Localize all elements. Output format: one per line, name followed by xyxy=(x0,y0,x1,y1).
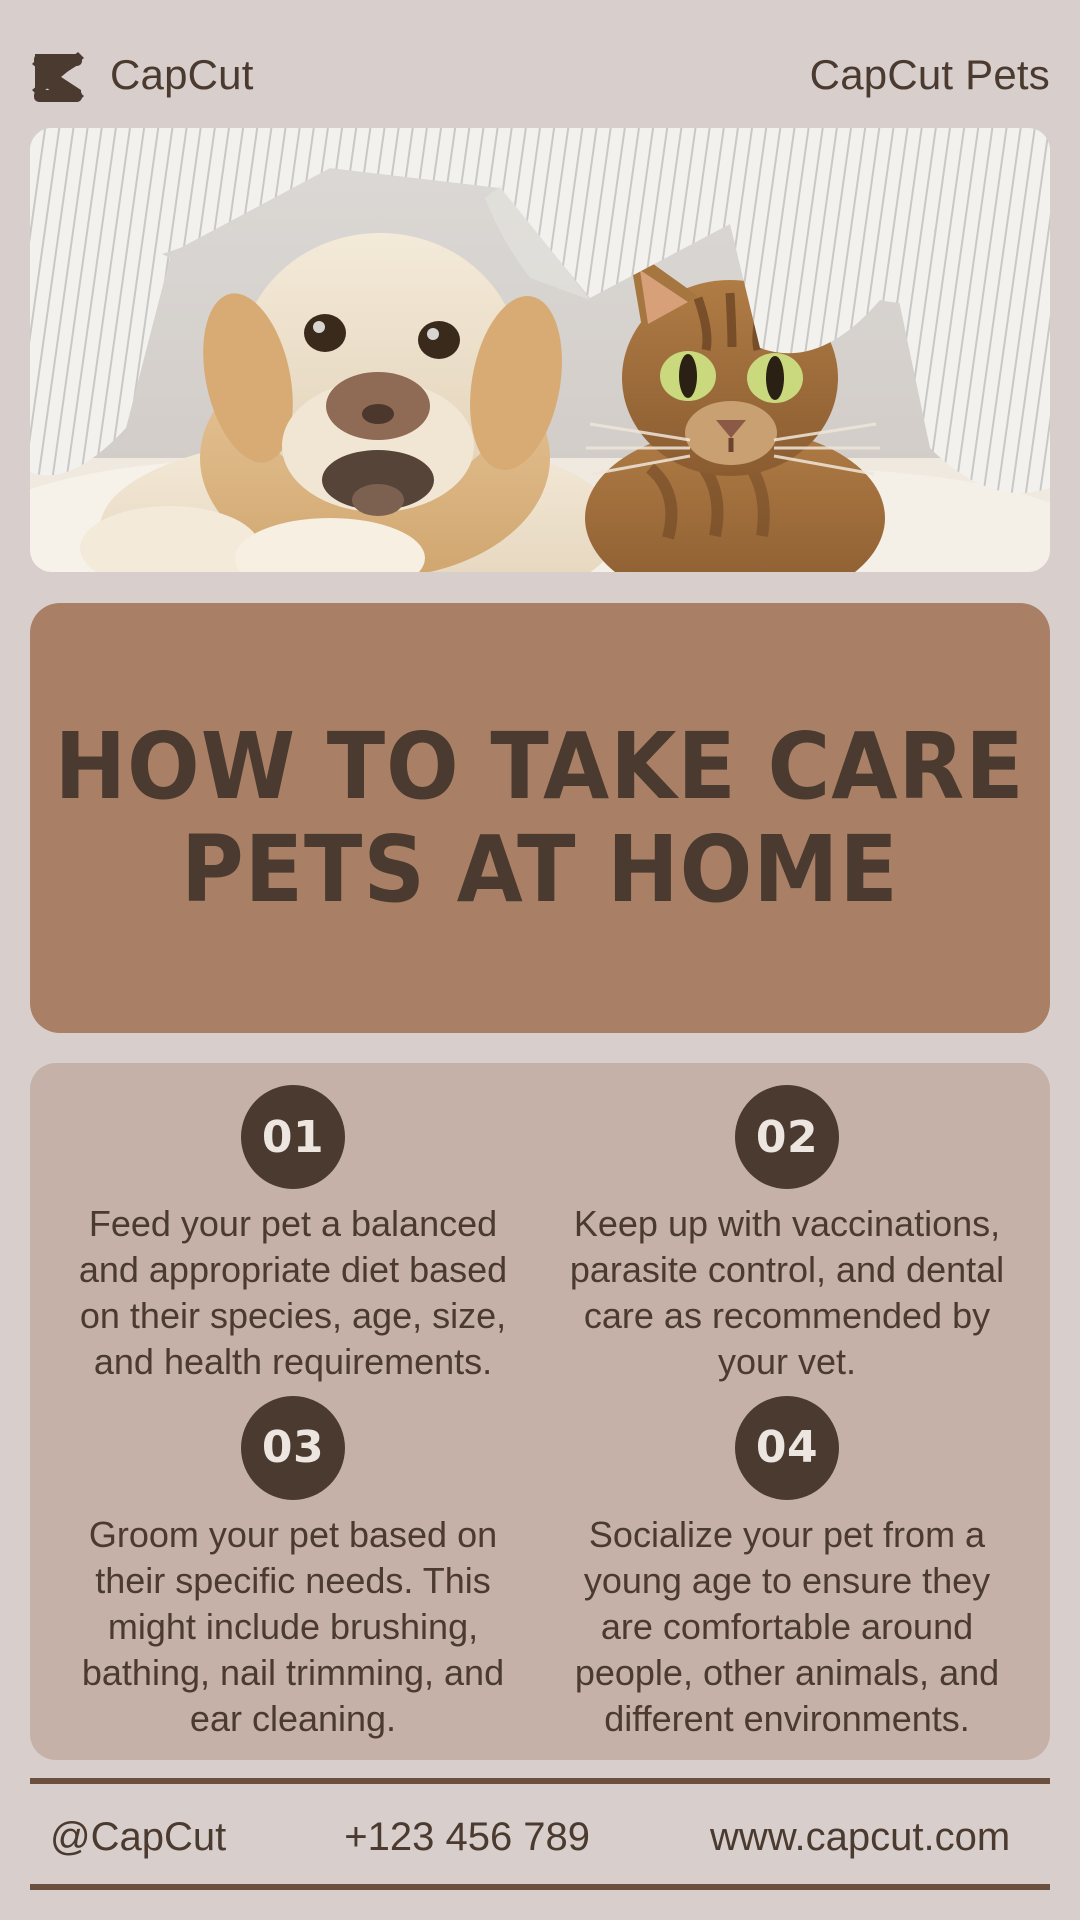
header-right-label: CapCut Pets xyxy=(810,54,1050,96)
tip-item-01: 01 Feed your pet a balanced and appropri… xyxy=(46,1085,540,1396)
page-title-line-1: HOW TO TAKE CARE xyxy=(55,715,1025,818)
infographic-poster: CapCut CapCut Pets xyxy=(0,0,1080,1920)
tip-number-badge: 02 xyxy=(735,1085,839,1189)
footer-phone[interactable]: +123 456 789 xyxy=(344,1817,590,1857)
hero-image xyxy=(30,128,1050,572)
tip-item-03: 03 Groom your pet based on their specifi… xyxy=(46,1396,540,1742)
header: CapCut CapCut Pets xyxy=(30,42,1050,108)
tip-number-badge: 01 xyxy=(241,1085,345,1189)
tip-number-badge: 04 xyxy=(735,1396,839,1500)
footer-divider-bottom xyxy=(30,1884,1050,1890)
capcut-logo-icon xyxy=(30,46,92,104)
tips-grid: 01 Feed your pet a balanced and appropri… xyxy=(46,1085,1034,1742)
tip-number-badge: 03 xyxy=(241,1396,345,1500)
footer: @CapCut +123 456 789 www.capcut.com xyxy=(30,1798,1050,1876)
page-title-line-2: PETS AT HOME xyxy=(181,818,899,921)
brand: CapCut xyxy=(30,46,254,104)
footer-divider-top xyxy=(30,1778,1050,1784)
tip-text: Groom your pet based on their specific n… xyxy=(60,1512,526,1742)
tip-text: Keep up with vaccinations, parasite cont… xyxy=(554,1201,1020,1385)
brand-name: CapCut xyxy=(110,54,254,96)
tip-item-02: 02 Keep up with vaccinations, parasite c… xyxy=(540,1085,1034,1396)
tip-text: Feed your pet a balanced and appropriate… xyxy=(60,1201,526,1385)
tip-item-04: 04 Socialize your pet from a young age t… xyxy=(540,1396,1034,1742)
tips-card: 01 Feed your pet a balanced and appropri… xyxy=(30,1063,1050,1760)
tip-text: Socialize your pet from a young age to e… xyxy=(554,1512,1020,1742)
footer-social-handle[interactable]: @CapCut xyxy=(50,1817,226,1857)
footer-website[interactable]: www.capcut.com xyxy=(710,1817,1010,1857)
title-banner: HOW TO TAKE CARE PETS AT HOME xyxy=(30,603,1050,1033)
